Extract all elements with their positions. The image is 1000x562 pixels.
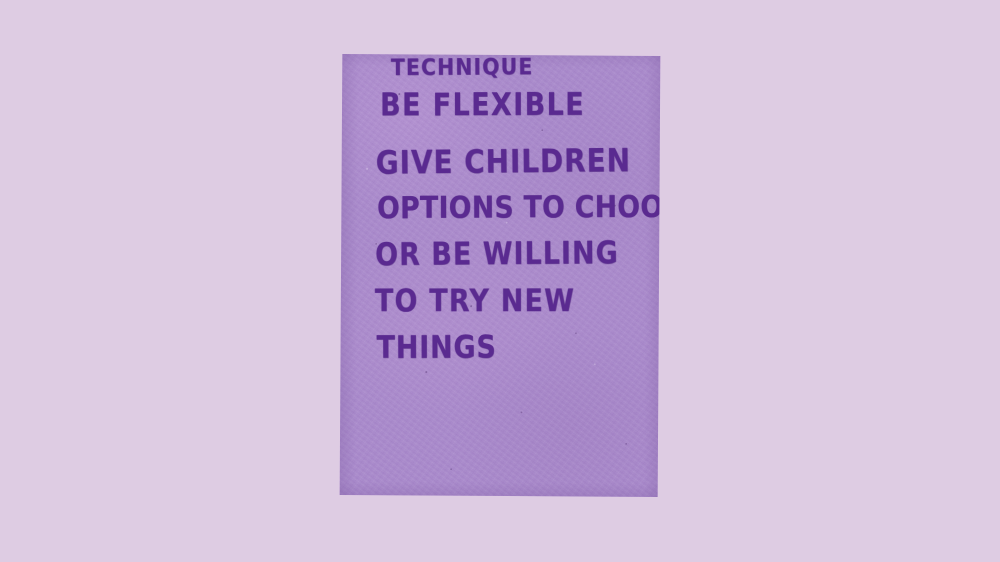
paper-tint-layer [340,54,661,497]
paper-edge-shading [340,54,661,497]
paper-speckle-texture [340,54,661,497]
handwriting-text-block: TECHNIQUE BE FLEXIBLE GIVE CHILDREN OPTI… [340,54,661,497]
note-line-to-try-new: TO TRY NEW [375,286,575,317]
note-line-things: THINGS [376,332,496,363]
note-line-or-be-willing: OR BE WILLING [375,238,619,271]
note-line-technique: TECHNIQUE [391,55,534,78]
note-line-options-to-choose: OPTIONS TO CHOOSE [377,192,660,224]
paper-grain-texture [340,54,661,497]
note-line-be-flexible: BE FLEXIBLE [380,90,585,121]
handwritten-note-card: TECHNIQUE BE FLEXIBLE GIVE CHILDREN OPTI… [340,54,661,497]
note-line-give-children: GIVE CHILDREN [376,145,632,180]
photo-scene: TECHNIQUE BE FLEXIBLE GIVE CHILDREN OPTI… [0,0,1000,562]
